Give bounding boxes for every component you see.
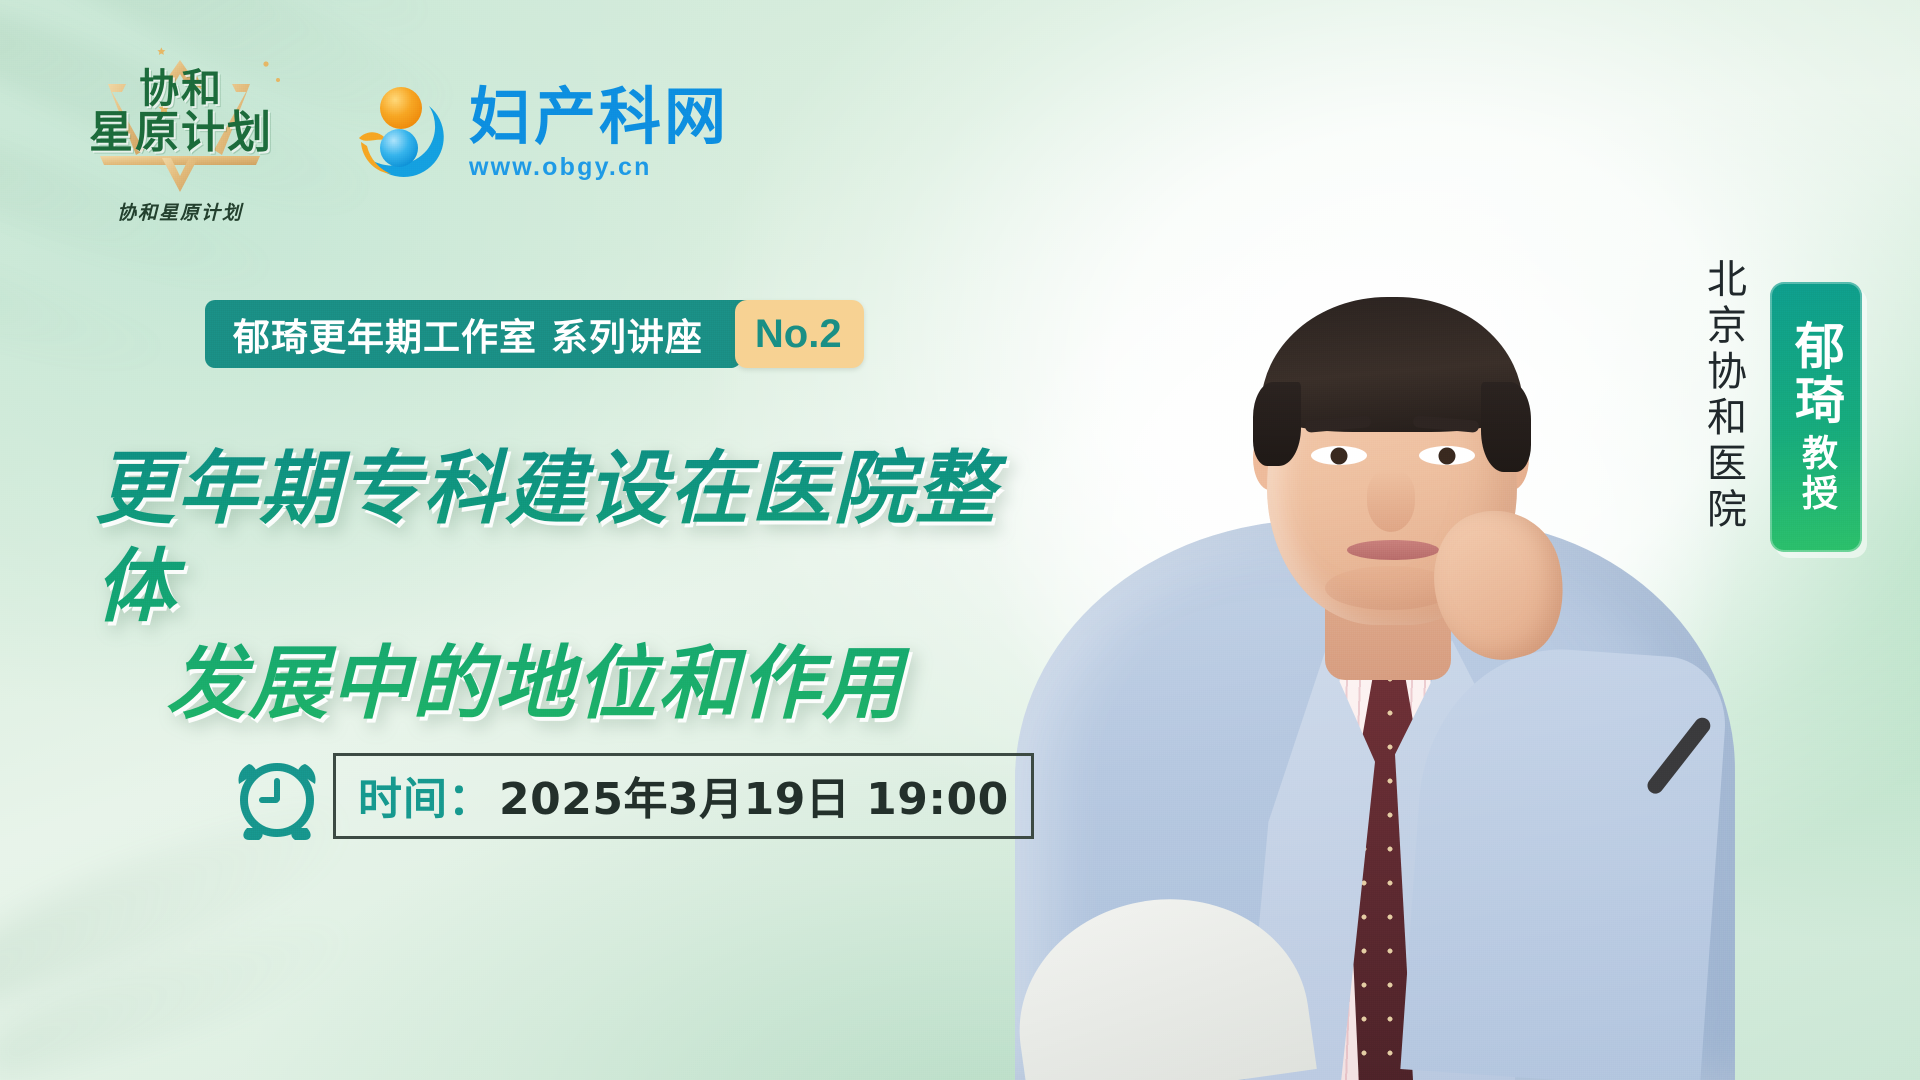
leaf-blade [0, 215, 170, 396]
partner-url: www.obgy.cn [469, 153, 729, 182]
program-logo-caption: 协和星原计划 [70, 198, 290, 225]
portrait-eye-right [1419, 446, 1475, 465]
speaker-name: 郁琦 [1780, 320, 1852, 428]
program-logo-line2: 星原计划 [88, 111, 274, 154]
portrait-mouth [1347, 540, 1439, 560]
portrait-lapel-right [1395, 640, 1545, 1080]
schedule-row: 时间： 2025年3月19日 19:00 [235, 752, 1034, 840]
leaf-blade [0, 915, 364, 1080]
portrait-face [1267, 313, 1517, 625]
series-banner: 郁琦更年期工作室 系列讲座 No.2 [205, 300, 864, 368]
partner-logo[interactable]: 妇产科网 www.obgy.cn [355, 86, 729, 182]
portrait-necktie [1347, 680, 1431, 1080]
portrait-jacket [1015, 520, 1735, 1080]
program-logo-text: 协和 星原计划 [88, 70, 274, 154]
lecture-title-line2: 发展中的地位和作用 [95, 635, 975, 733]
partner-name: 妇产科网 [469, 86, 729, 148]
lecture-title-line1: 更年期专科建设在医院整体 [95, 440, 1035, 635]
portrait-ear-left [1253, 426, 1287, 490]
portrait-neck [1325, 550, 1451, 680]
webinar-poster: 协和 星原计划 协和星原计划 [0, 0, 1920, 1080]
portrait-shirt [1295, 650, 1475, 1080]
program-logo-line1: 协和 [88, 70, 274, 109]
portrait-arm [1400, 640, 1729, 1080]
schedule-box: 时间： 2025年3月19日 19:00 [333, 753, 1034, 839]
lecture-title: 更年期专科建设在医院整体 发展中的地位和作用 [95, 440, 1035, 733]
obgy-mark-icon [355, 86, 455, 182]
schedule-value: 2025年3月19日 19:00 [499, 763, 1009, 827]
series-label: 郁琦更年期工作室 系列讲座 [205, 300, 729, 368]
leaf-shadow-bottom-left [0, 800, 500, 1080]
alarm-clock-icon [235, 752, 319, 840]
partner-logo-text: 妇产科网 www.obgy.cn [469, 86, 729, 182]
speaker-name-badge: 郁琦 教授 [1770, 282, 1862, 552]
portrait-hand [1419, 497, 1579, 674]
program-logo: 协和 星原计划 协和星原计划 [70, 46, 310, 236]
speaker-portrait [995, 40, 1735, 1080]
portrait-ear-right [1495, 426, 1529, 490]
portrait-lapel-left [1245, 650, 1375, 1080]
schedule-label: 时间： [358, 763, 493, 827]
series-number-badge: No.2 [735, 300, 864, 368]
portrait-white-object [1003, 881, 1317, 1080]
portrait-eye-left [1311, 446, 1367, 465]
portrait-hair [1261, 297, 1523, 432]
portrait-nose [1367, 470, 1415, 532]
portrait-eyebrow-right [1413, 415, 1480, 433]
portrait-chin [1325, 566, 1455, 610]
portrait-eyebrow-left [1305, 415, 1372, 433]
speaker-title: 教授 [1790, 434, 1842, 514]
speaker-hospital: 北京协和医院 [1694, 258, 1752, 534]
